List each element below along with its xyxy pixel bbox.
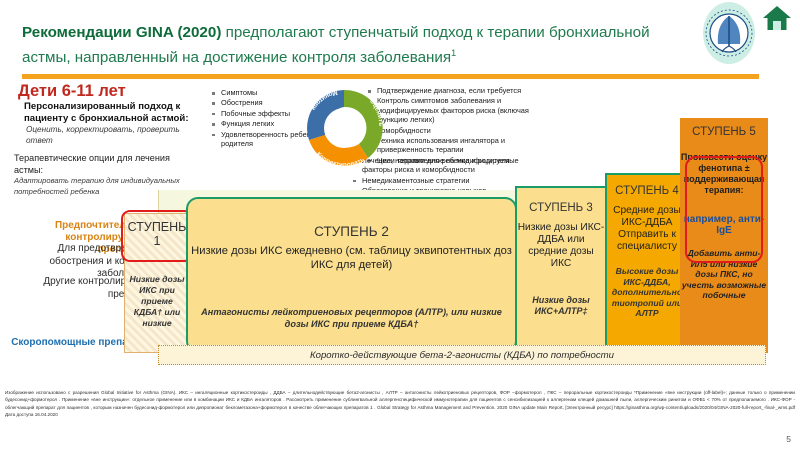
step-3-title: СТУПЕНЬ 3 (517, 202, 605, 214)
page-number: 5 (786, 434, 791, 444)
title-divider (22, 74, 759, 79)
footnote: Изображение использовано с разрешения Gl… (5, 389, 795, 418)
step-4-title: СТУПЕНЬ 4 (607, 185, 687, 197)
step-4-preferred-controller: Средние дозы ИКС-ДДБА Отправить к специа… (607, 205, 687, 253)
personalized-subtext: Оценить, корректировать, проверить ответ (26, 124, 206, 146)
page-title-bold: Рекомендации GINA (2020) (22, 24, 221, 41)
step-5-box[interactable]: СТУПЕНЬ 5 Произвести оценку фенотипа ± п… (680, 118, 768, 353)
step-3-box[interactable]: СТУПЕНЬ 3 Низкие дозы ИКС-ДДБА или средн… (515, 186, 607, 353)
step-2-other-controller: Антагонисты лейкотриеновых рецепторов (А… (188, 306, 515, 330)
page-title-superscript: 1 (451, 48, 456, 58)
home-icon[interactable] (762, 4, 792, 32)
personalized-heading: Персонализированный подход к пациенту с … (24, 101, 199, 124)
step-2-box[interactable]: СТУПЕНЬ 2 Низкие дозы ИКС ежедневно (см.… (186, 197, 517, 353)
step-3-other-controller: Низкие дозы ИКС+АЛТР‡ (517, 295, 605, 317)
list-item: Подтверждение диагноза, если требуется (368, 86, 543, 95)
reliever-band: Коротко-действующие бета-2-агонисты (КДБ… (158, 345, 766, 365)
step-5-highlight (685, 156, 763, 263)
step-2-title: СТУПЕНЬ 2 (188, 224, 515, 239)
therapy-heading: Терапевтические опции для лечения астмы: (14, 153, 194, 176)
step-4-other-controller: Высокие дозы ИКС-ДДБА, дополнительно тио… (607, 266, 687, 319)
step-2-preferred-controller: Низкие дозы ИКС ежедневно (см. таблицу э… (188, 245, 515, 272)
age-group-title: Дети 6-11 лет (18, 82, 126, 101)
page-title: Рекомендации GINA (2020) предполагают ст… (22, 22, 682, 68)
step-4-box[interactable]: СТУПЕНЬ 4 Средние дозы ИКС-ДДБА Отправит… (605, 173, 689, 353)
review-bullet-list: Подтверждение диагноза, если требуется К… (368, 86, 543, 166)
step-1-title: СТУПЕНЬ 1 (127, 220, 187, 248)
list-item: Коморбидности (368, 126, 543, 135)
assess-adjust-review-cycle: Мониторировать Оценить Корректировать (296, 80, 392, 176)
step-3-preferred-controller: Низкие дозы ИКС-ДДБА или средние дозы ИК… (517, 222, 605, 270)
list-item: Техника использования ингалятора и приве… (368, 136, 543, 155)
step-1-other-controller: Низкие дозы ИКС при приеме КДБА† или низ… (127, 274, 187, 329)
gina-logo (703, 2, 755, 64)
list-item: Немедикаментозные стратегии (353, 176, 543, 185)
slide-root: Рекомендации GINA (2020) предполагают ст… (0, 0, 800, 449)
step-5-title: СТУПЕНЬ 5 (680, 126, 768, 138)
list-item: Контроль симптомов заболевания и модифиц… (368, 96, 543, 124)
step-1-box[interactable]: СТУПЕНЬ 1 Низкие дозы ИКС при приеме КДБ… (124, 213, 188, 353)
